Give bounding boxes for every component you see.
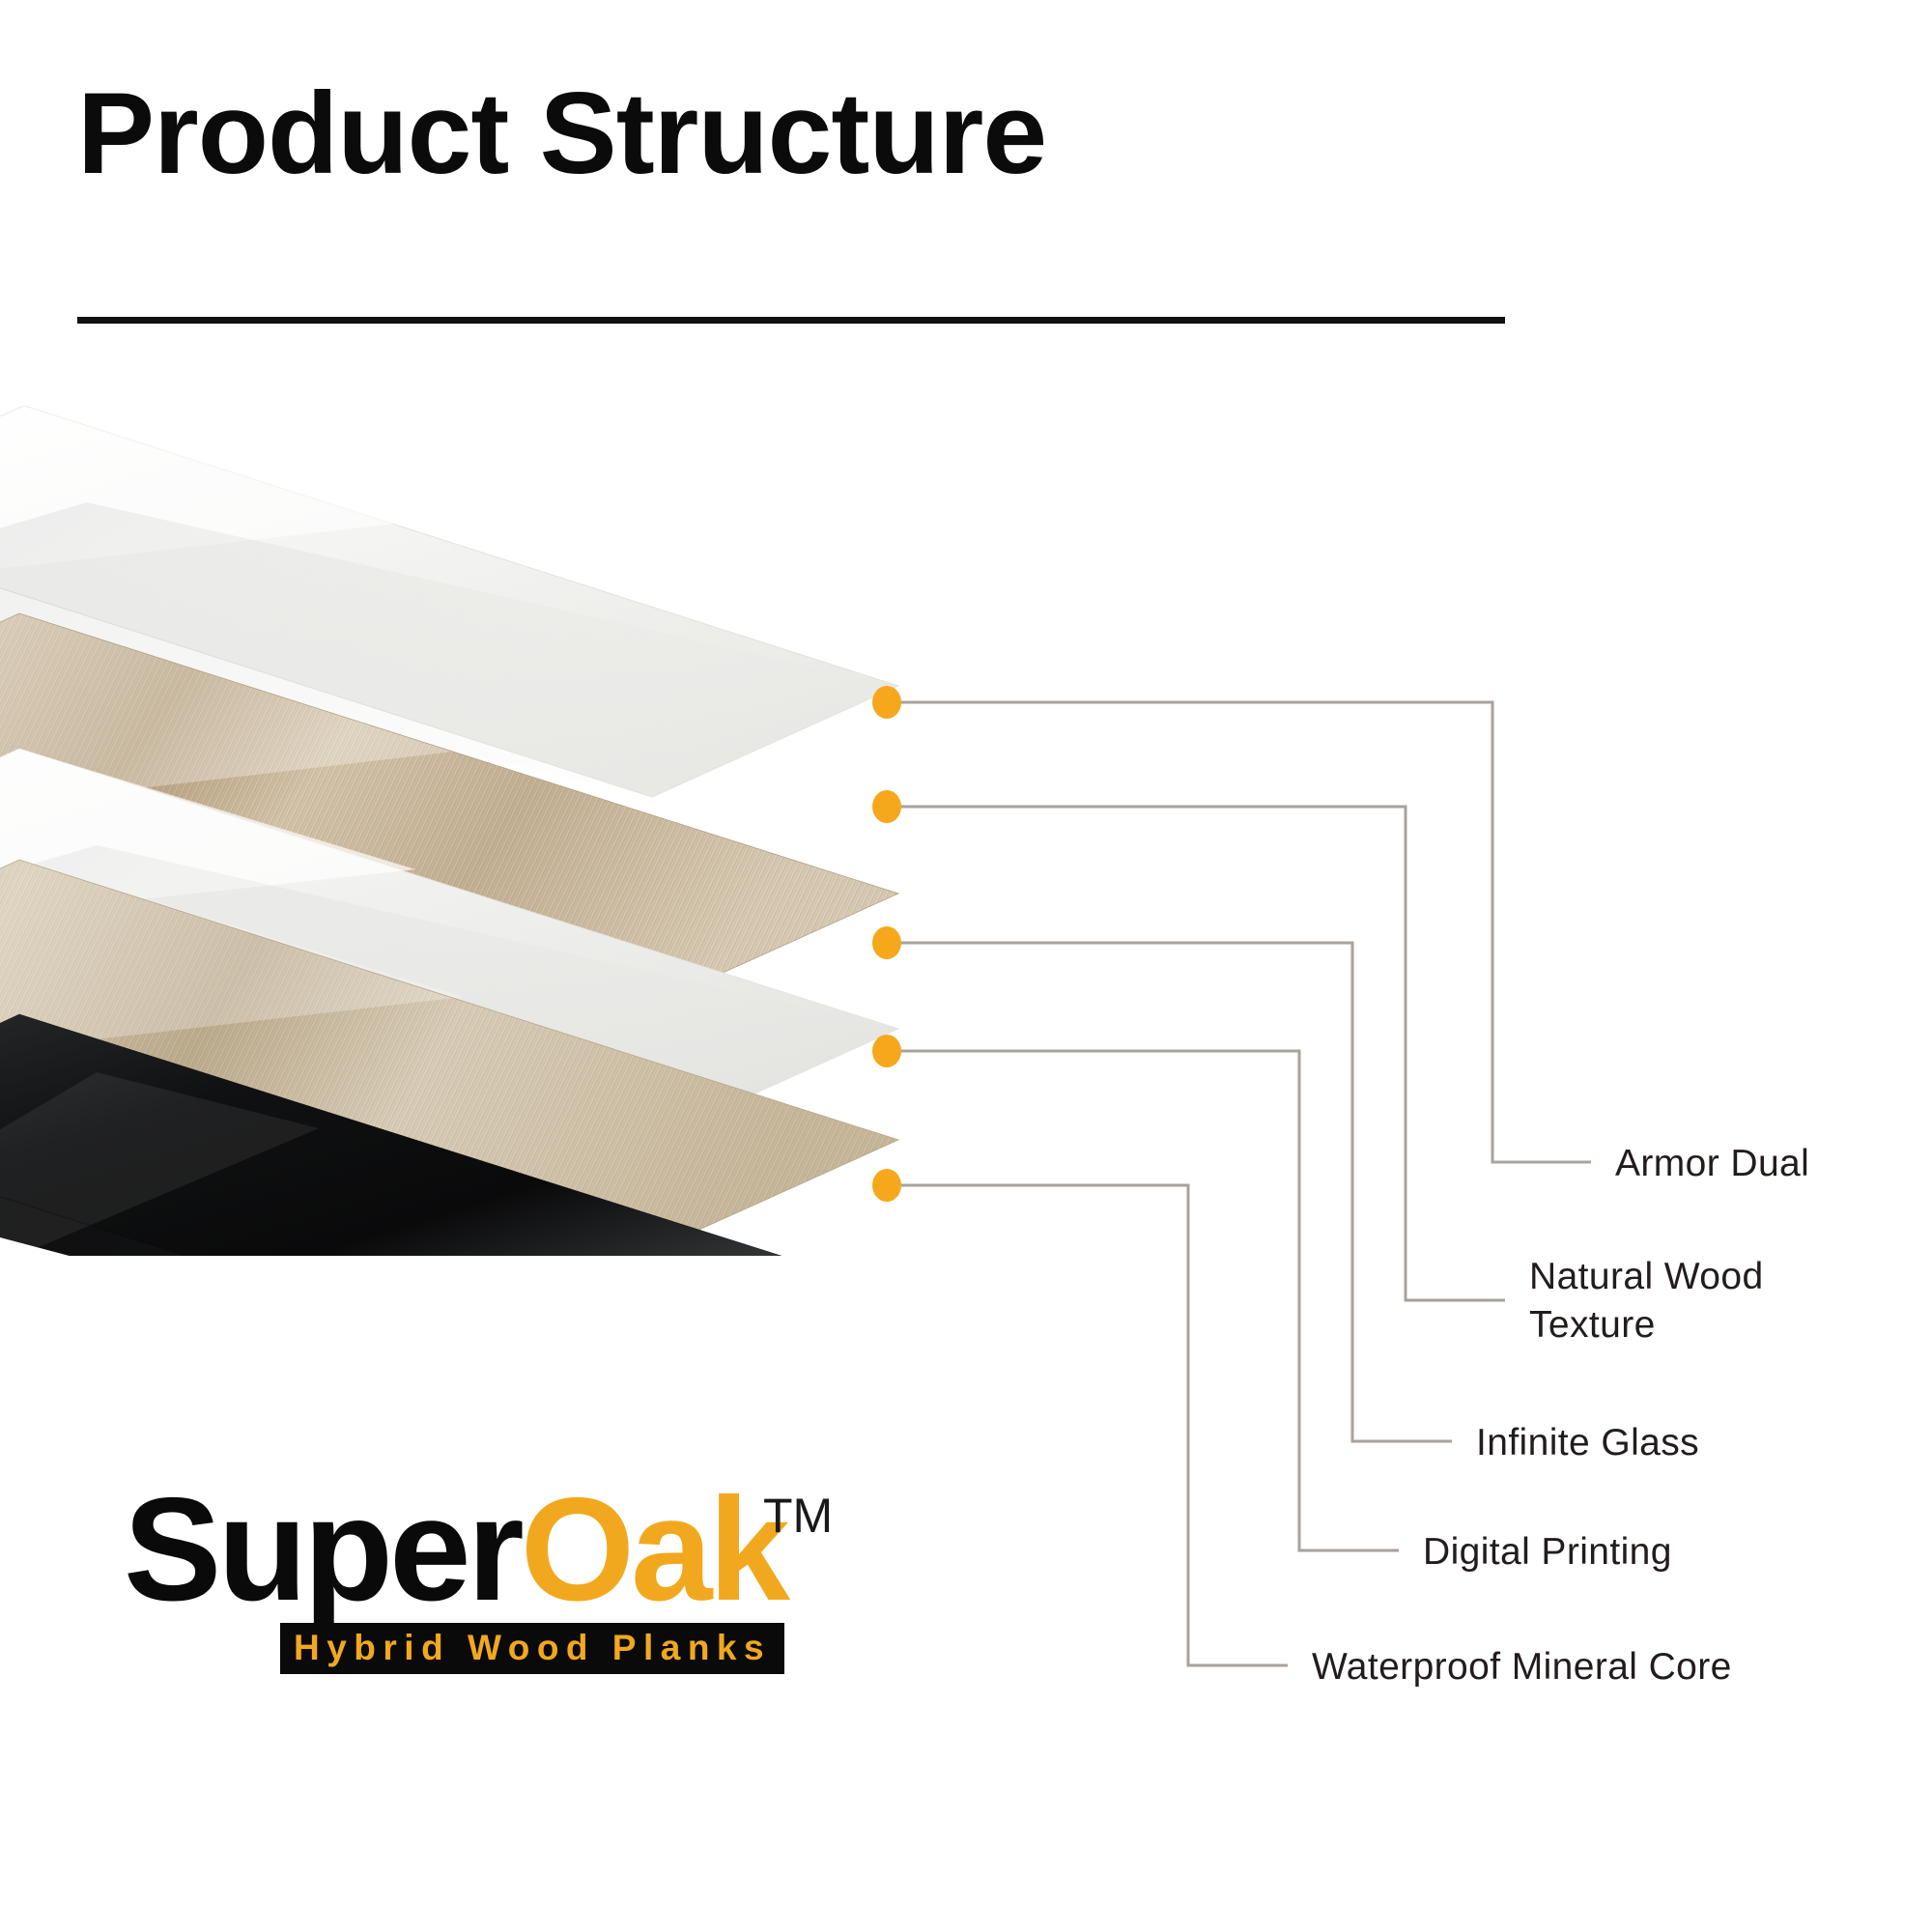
logo-tagline-bar: Hybrid Wood Planks bbox=[280, 1623, 784, 1674]
label-armor-dual: Armor Dual bbox=[1615, 1140, 1809, 1188]
label-natural-wood-texture: Natural Wood Texture bbox=[1529, 1253, 1764, 1350]
title-divider bbox=[77, 317, 1505, 324]
logo-word-super: Super bbox=[124, 1467, 521, 1632]
label-digital-printing: Digital Printing bbox=[1423, 1528, 1672, 1577]
callout-dot-digital-printing[interactable] bbox=[872, 1035, 901, 1067]
callout-dot-infinite-glass[interactable] bbox=[872, 926, 901, 959]
brand-logo: SuperOak TM Hybrid Wood Planks bbox=[124, 1476, 974, 1684]
logo-wordmark: SuperOak bbox=[124, 1476, 786, 1623]
exploded-layer-stack bbox=[0, 406, 1034, 1236]
callout-dot-natural-wood-texture[interactable] bbox=[872, 790, 901, 823]
logo-word-oak: Oak bbox=[521, 1467, 786, 1632]
trademark-symbol: TM bbox=[763, 1488, 833, 1544]
page-title: Product Structure bbox=[77, 75, 1046, 191]
logo-tagline: Hybrid Wood Planks bbox=[294, 1630, 771, 1665]
callout-dot-armor-dual[interactable] bbox=[872, 686, 901, 719]
label-waterproof-mineral-core: Waterproof Mineral Core bbox=[1312, 1643, 1732, 1691]
callout-dot-waterproof-mineral-core[interactable] bbox=[872, 1169, 901, 1202]
product-structure-page: Product Structure bbox=[0, 0, 1932, 1932]
label-infinite-glass: Infinite Glass bbox=[1476, 1419, 1699, 1467]
